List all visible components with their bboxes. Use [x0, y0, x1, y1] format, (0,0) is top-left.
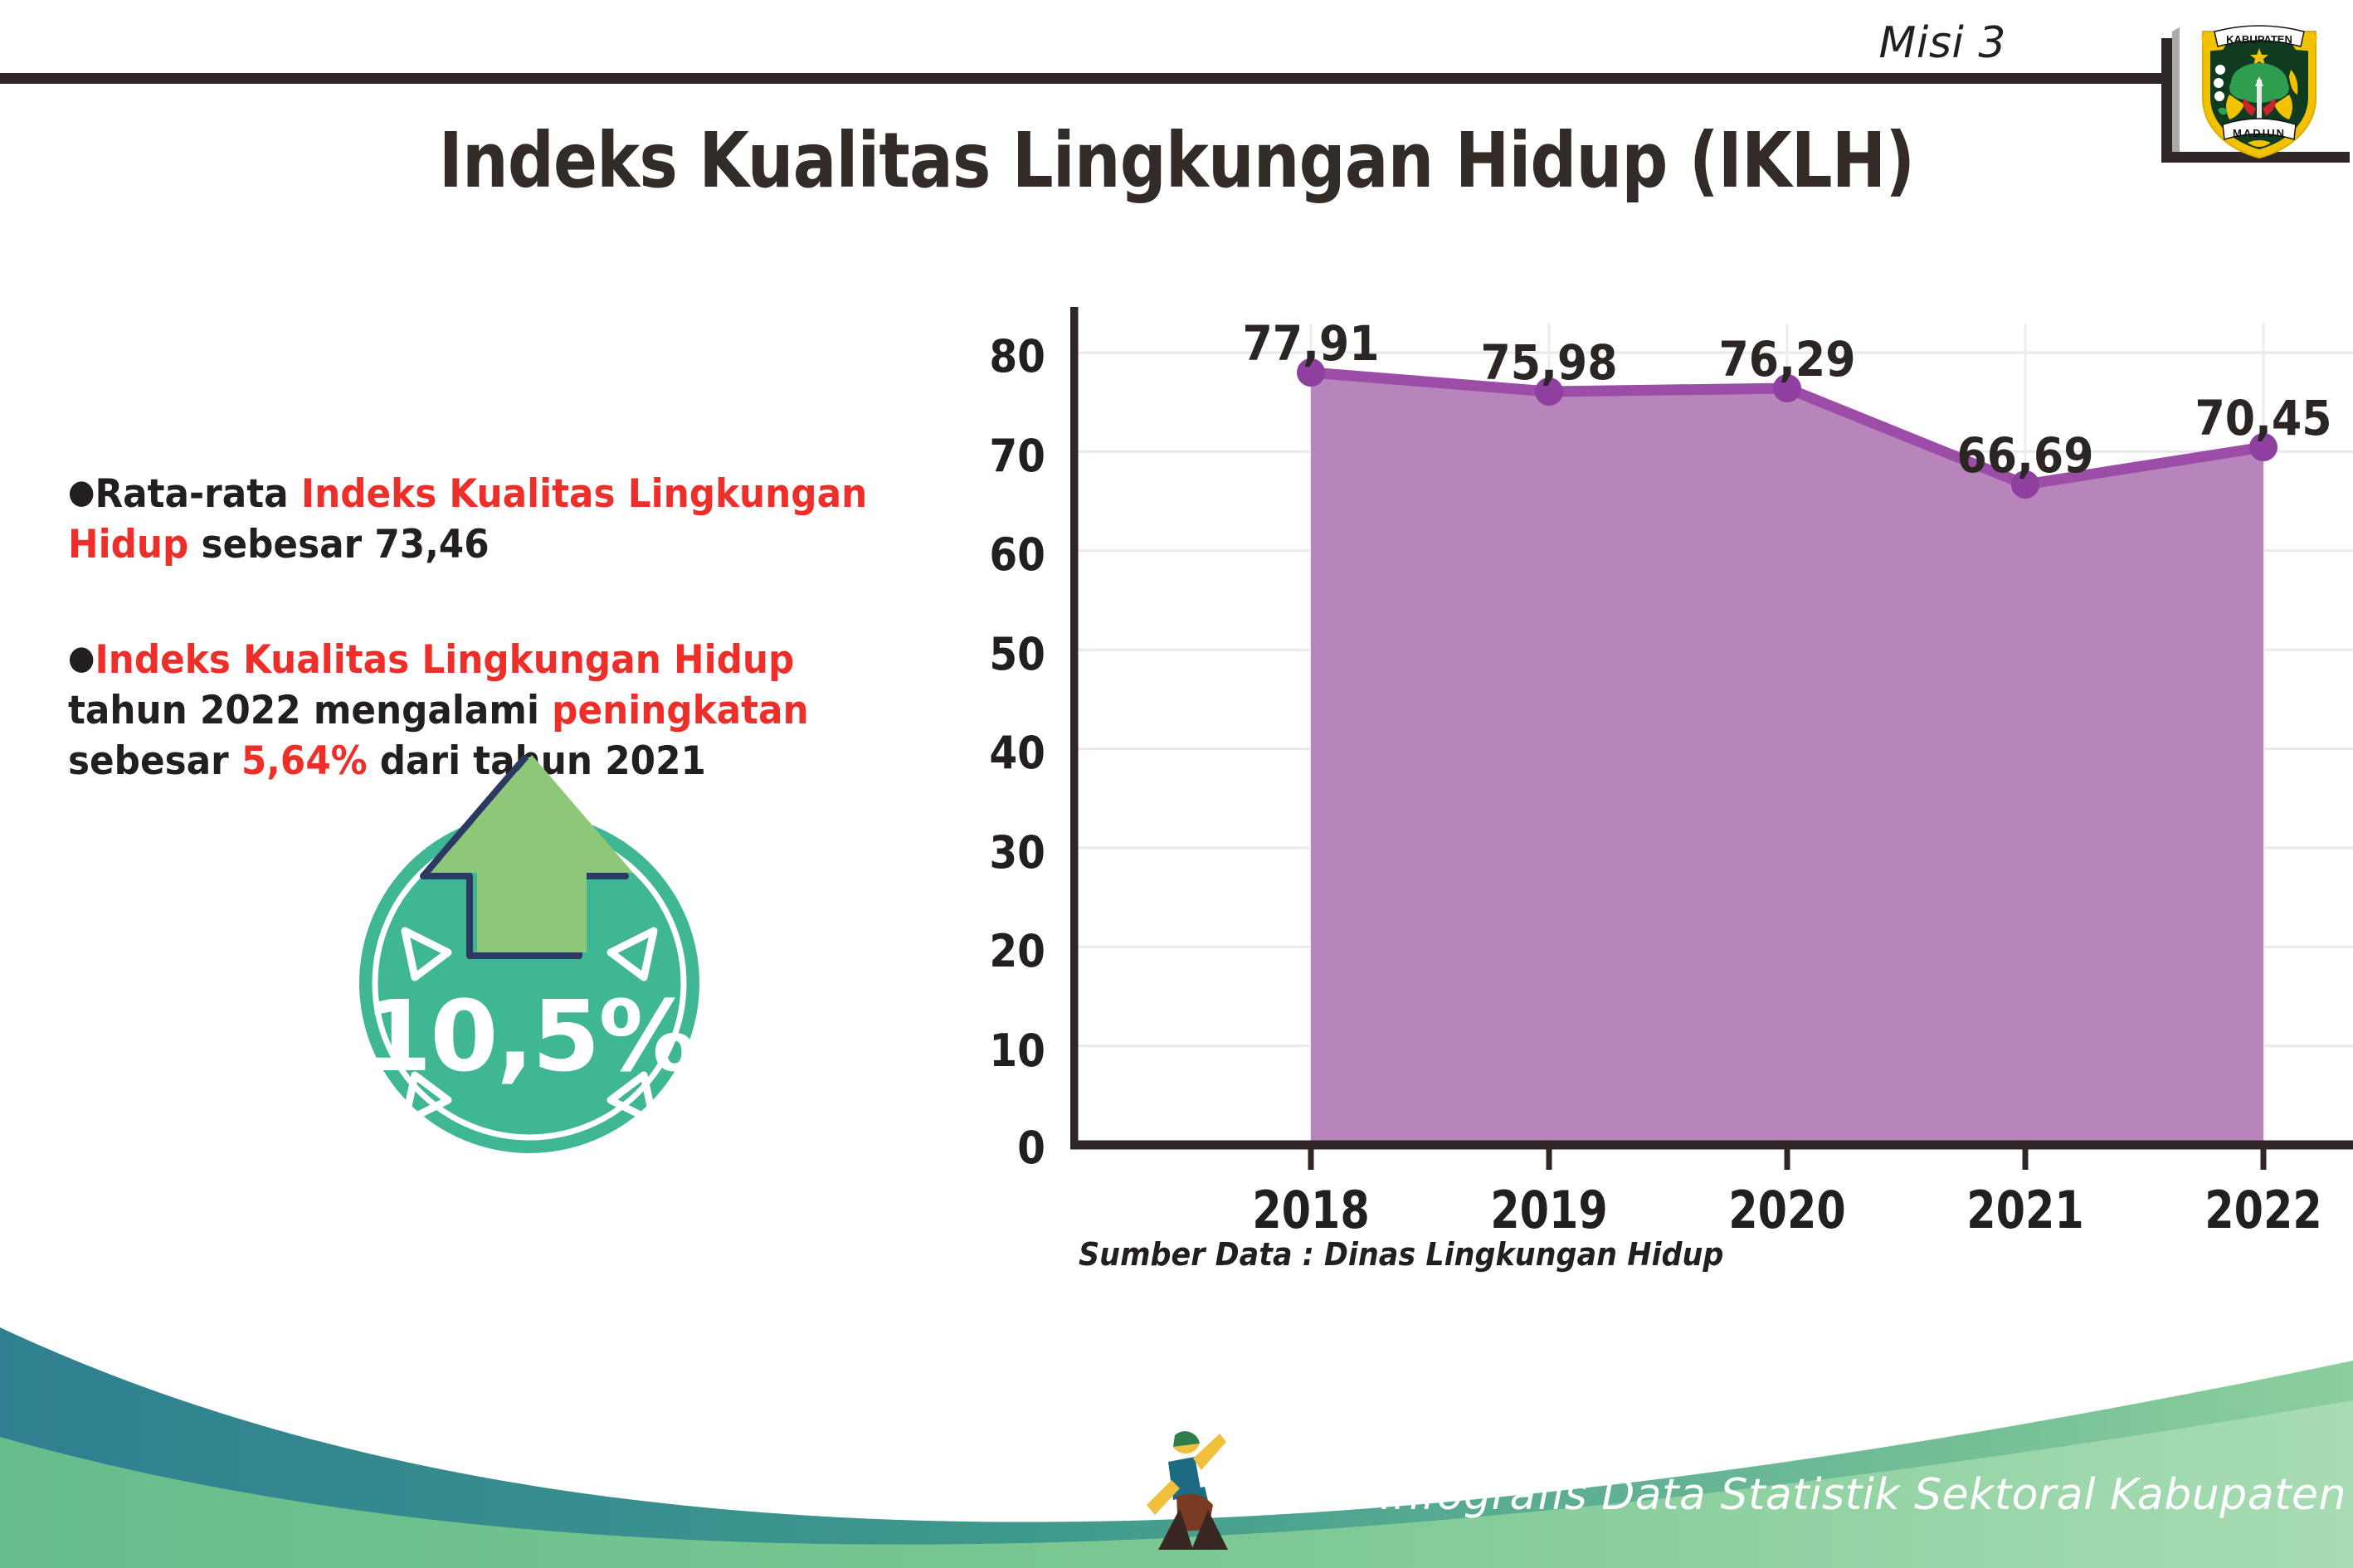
chart-area-fill [1311, 373, 2263, 1145]
bullet-item-average: ●Rata-rata Indeks Kualitas Lingkungan Hi… [68, 469, 894, 570]
mission-label: Misi 3 [1879, 18, 2006, 68]
x-axis-tick-2018: 2018 [1222, 1180, 1399, 1240]
y-axis-tick-0: 0 [956, 1122, 1045, 1174]
y-axis-tick-70: 70 [956, 430, 1045, 482]
y-axis-tick-40: 40 [956, 727, 1045, 779]
y-axis-tick-50: 50 [956, 628, 1045, 680]
data-label-2021: 66,69 [1913, 427, 2137, 484]
seal-bottom-text: MADIUN [2233, 127, 2286, 139]
bullet-marker-icon: ● [68, 639, 95, 677]
increase-badge: 10,5% [322, 747, 737, 1170]
badge-value: 10,5% [322, 979, 737, 1093]
footer-caption: Media Infografis Data Statistik Sektoral… [1235, 1470, 2353, 1520]
y-axis-tick-10: 10 [956, 1025, 1045, 1077]
y-axis-tick-80: 80 [956, 330, 1045, 382]
bullet1-part1: Rata-rata [95, 471, 300, 517]
seal-top-text: KABUPATEN [2226, 33, 2292, 46]
bullet-marker-icon: ● [68, 473, 95, 511]
header-rule [0, 73, 2170, 84]
statistics-figure-logo-icon [1143, 1429, 1241, 1553]
bullet2-part1: tahun 2022 mengalami [68, 688, 552, 733]
narrative-block: ●Rata-rata Indeks Kualitas Lingkungan Hi… [68, 469, 956, 786]
data-label-2020: 76,29 [1675, 331, 1899, 387]
badge-graphic [322, 747, 737, 1170]
iklh-area-chart: 80 70 60 50 40 30 20 10 0 [954, 274, 2282, 1203]
x-axis-tick-2019: 2019 [1460, 1180, 1637, 1240]
x-axis-tick-2020: 2020 [1698, 1180, 1875, 1240]
data-label-2019: 75,98 [1437, 334, 1661, 391]
x-axis-tick-2021: 2021 [1936, 1180, 2113, 1240]
data-label-2018: 77,91 [1199, 315, 1423, 372]
y-axis-tick-30: 30 [956, 826, 1045, 879]
y-axis-tick-20: 20 [956, 925, 1045, 977]
bullet1-part2: sebesar 73,46 [188, 522, 489, 567]
bullet2-highlight2: peningkatan [552, 688, 809, 733]
page-title: Indeks Kualitas Lingkungan Hidup (IKLH) [177, 116, 2177, 205]
bullet2-part2: sebesar [68, 738, 241, 784]
bullet2-highlight1: Indeks Kualitas Lingkungan Hidup [95, 637, 794, 683]
infographic-page: Misi 3 KABUPATEN MADIUN Indeks Kualitas … [0, 0, 2353, 1568]
kabupaten-madiun-seal-icon: KABUPATEN MADIUN [2193, 18, 2326, 161]
y-axis-tick-60: 60 [956, 528, 1045, 581]
data-label-2022: 70,45 [2151, 390, 2353, 446]
x-axis-tick-2022: 2022 [2175, 1180, 2351, 1240]
source-note: Sumber Data : Dinas Lingkungan Hidup [1079, 1236, 1723, 1273]
